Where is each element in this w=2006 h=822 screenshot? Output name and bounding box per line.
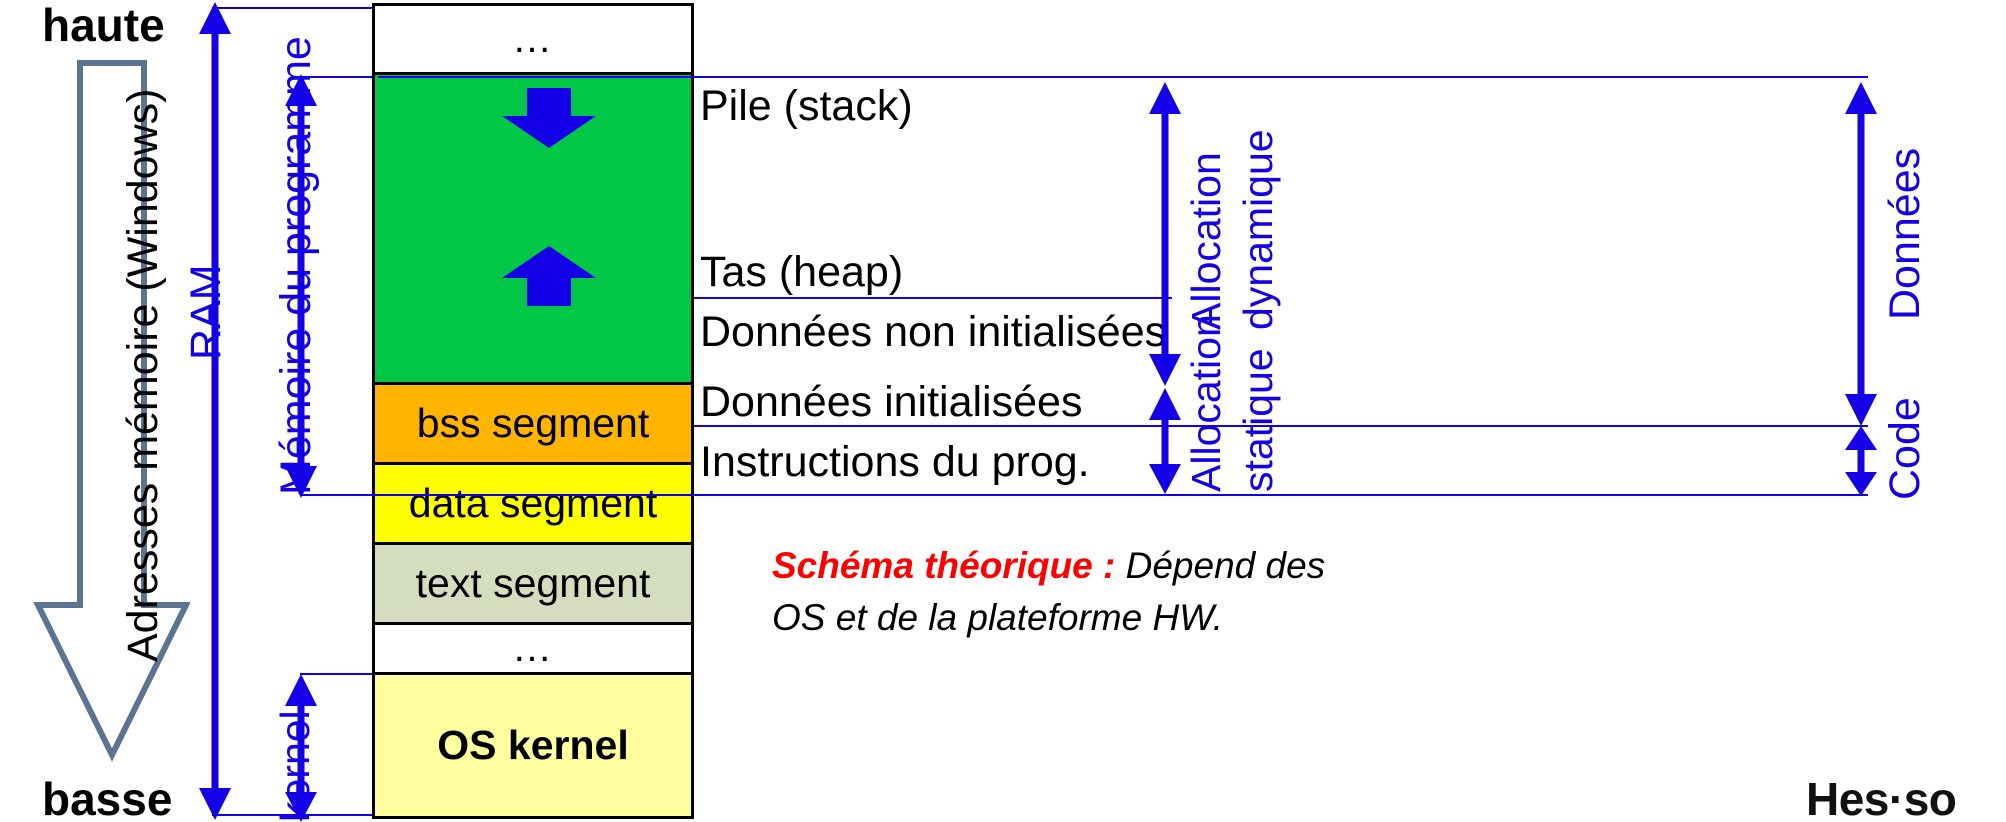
allocation-statique-arrow-icon [1142, 302, 1188, 494]
stack-grow-down-arrow-icon [500, 88, 598, 150]
footnote-line2: OS et de la plateforme HW. [772, 597, 1223, 639]
label-basse: basse [42, 772, 172, 822]
guide-line-text-bottom [300, 494, 1868, 496]
allocation-statique-line2: statique [1238, 348, 1279, 492]
memory-block-data-segment: data segment [372, 465, 694, 545]
guide-line-stack-top [378, 76, 1868, 78]
footnote-black-part: Dépend des [1115, 545, 1325, 586]
memory-block-bss-segment: bss segment [372, 385, 694, 465]
allocation-statique-line1: Allocation [1186, 314, 1227, 492]
heap-grow-up-arrow-icon [500, 246, 598, 308]
memory-block-text-segment: text segment [372, 545, 694, 625]
ram-label: RAM [185, 264, 228, 360]
footnote-line1: Schéma théorique : Dépend des [772, 545, 1325, 587]
allocation-dynamique-line1: Allocation [1186, 152, 1227, 330]
right-label-donnees-non-init: Données non initialisées [700, 308, 1166, 357]
ram-arrow-icon [190, 0, 240, 822]
right-label-instructions-prog: Instructions du prog. [700, 438, 1090, 487]
memory-block-label: bss segment [417, 400, 649, 447]
memory-block-os-kernel: OS kernel [372, 675, 694, 819]
label-haute: haute [42, 0, 165, 52]
memoire-programme-label: Mémoire du programme [275, 36, 318, 495]
memory-block-top-ellipsis: … [372, 3, 694, 75]
memory-layout-diagram: haute basse Adresses mémoire (Windows) R… [0, 0, 2006, 822]
donnees-arrow-icon [1838, 80, 1884, 428]
code-label: Code [1884, 397, 1927, 500]
footnote-red-part: Schéma théorique : [772, 545, 1115, 586]
allocation-dynamique-line2: dynamique [1238, 129, 1279, 330]
code-arrow-icon [1838, 424, 1884, 498]
right-label-donnees-init: Données initialisées [700, 378, 1082, 427]
adresses-memoire-label: Adresses mémoire (Windows) [122, 89, 165, 662]
memory-block-gap-ellipsis: … [372, 625, 694, 675]
memory-block-label: … [512, 17, 554, 62]
memory-block-label: OS kernel [437, 722, 628, 769]
memory-block-label: data segment [409, 480, 657, 527]
kernel-top-connector [300, 673, 380, 675]
ram-top-connector [212, 7, 377, 9]
guide-line-code-top [694, 425, 1868, 427]
right-label-pile-stack: Pile (stack) [700, 82, 913, 131]
donnees-label: Données [1884, 148, 1927, 320]
memory-block-label: … [512, 626, 554, 671]
right-label-tas-heap: Tas (heap) [700, 248, 903, 297]
prog-top-connector [300, 76, 380, 78]
kernel-label: kernel [275, 710, 316, 822]
memory-block-label: text segment [416, 560, 651, 607]
hesso-logo: Hes·so [1806, 772, 1956, 822]
guide-line-heap-bottom [694, 297, 1172, 299]
